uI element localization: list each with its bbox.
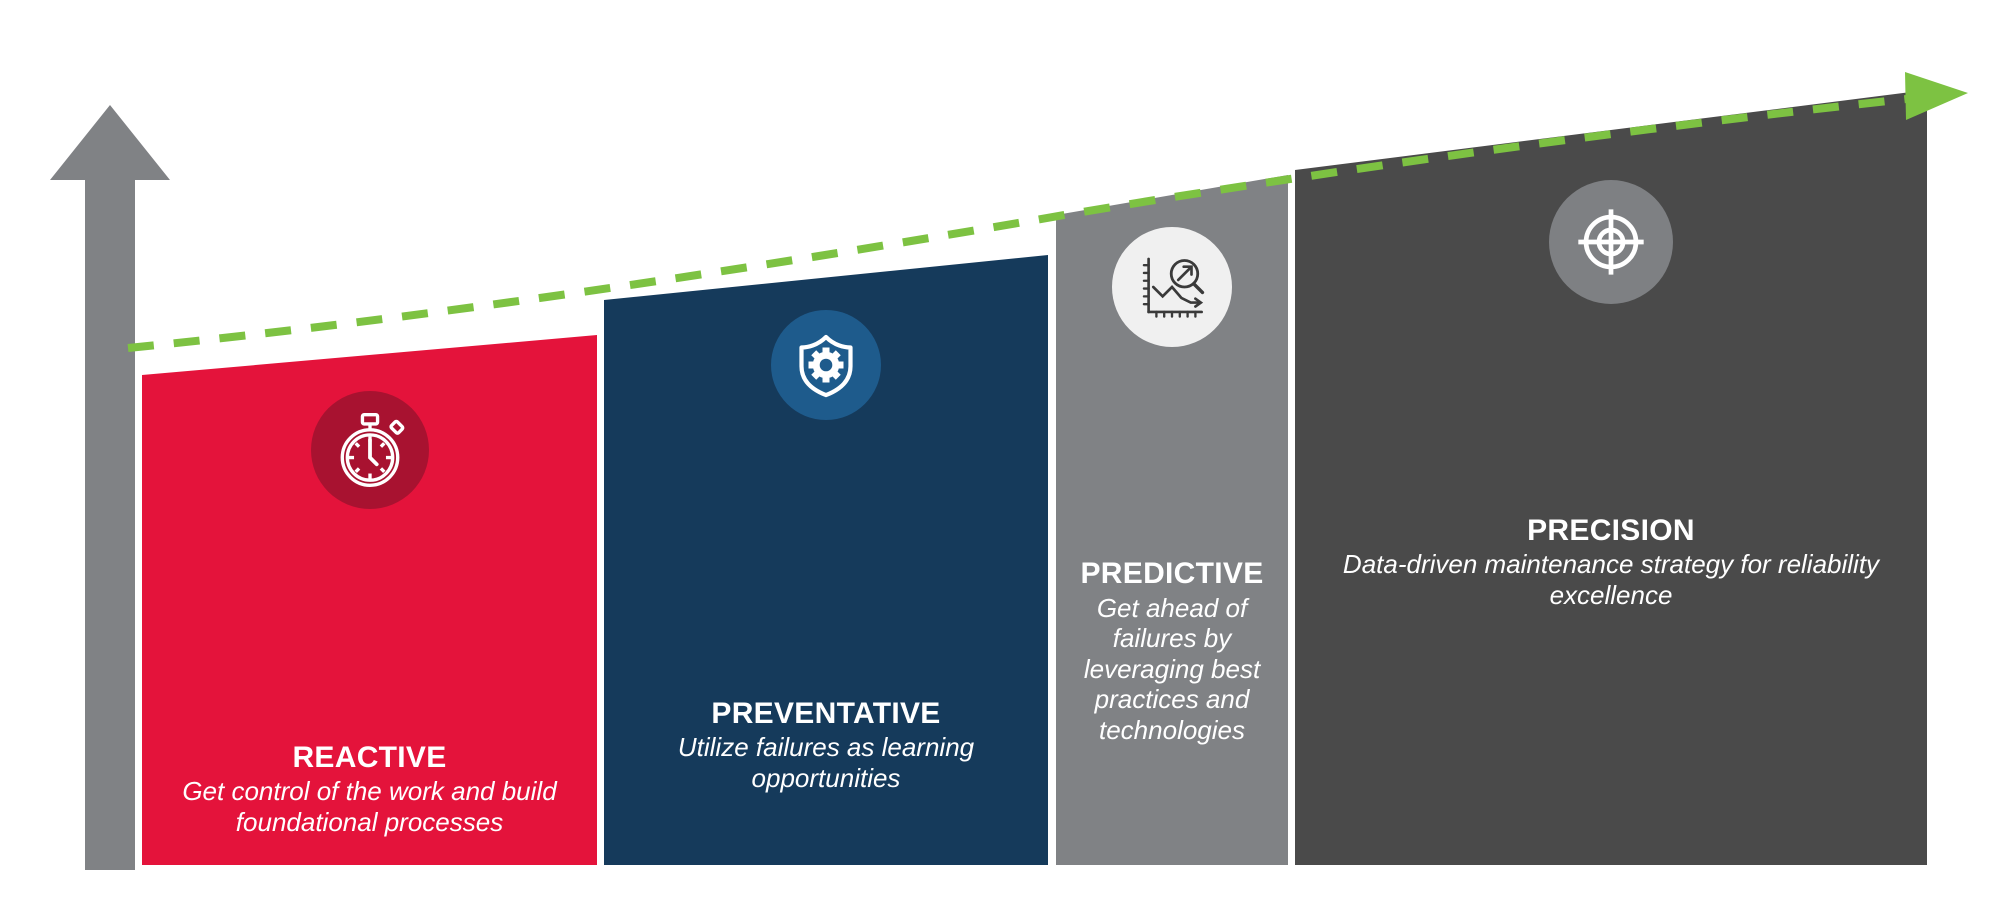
stopwatch-icon (311, 391, 429, 509)
maintenance-maturity-diagram: Reliability: OEE and uptime (0, 0, 2000, 920)
stage-column-reactive[interactable]: REACTIVE Get control of the work and bui… (142, 335, 597, 865)
stage-description: Utilize failures as learning opportuniti… (604, 732, 1048, 793)
stage-title: REACTIVE (292, 741, 446, 775)
target-crosshair-icon (1549, 180, 1673, 304)
stage-description: Data-driven maintenance strategy for rel… (1295, 549, 1927, 610)
stage-column-preventative[interactable]: PREVENTATIVE Utilize failures as learnin… (604, 255, 1048, 865)
stage-column-predictive[interactable]: PREDICTIVE Get ahead of failures by leve… (1056, 175, 1288, 865)
stage-description: Get ahead of failures by leveraging best… (1056, 593, 1288, 745)
stage-title: PREDICTIVE (1080, 557, 1263, 591)
chart-magnifier-icon (1112, 227, 1232, 347)
stage-column-precision[interactable]: PRECISION Data-driven maintenance strate… (1295, 90, 1927, 865)
stage-title: PRECISION (1527, 514, 1695, 548)
shield-gear-icon (771, 310, 881, 420)
stage-description: Get control of the work and build founda… (142, 776, 597, 837)
stage-title: PREVENTATIVE (711, 697, 940, 731)
